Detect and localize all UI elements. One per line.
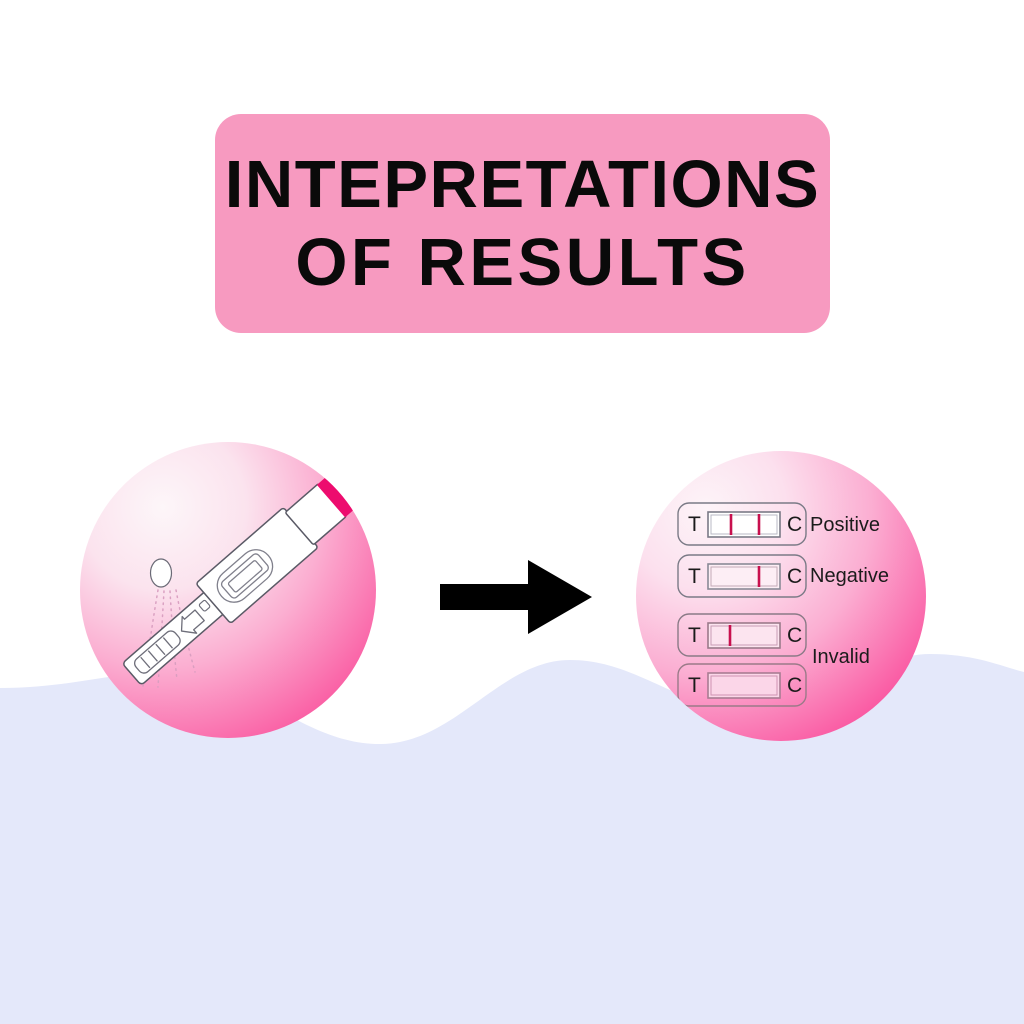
strip-letter-t: T	[688, 513, 701, 536]
page-title-line-1: INTEPRETATIONS	[225, 151, 820, 219]
page-title-line-2: OF RESULTS	[295, 225, 749, 300]
strip-letter-c: C	[787, 674, 802, 697]
results-panel: T C T C	[626, 450, 936, 742]
right-arrow-icon	[440, 560, 592, 634]
right-pink-circle	[636, 451, 926, 741]
test-stick-panel	[78, 440, 378, 740]
flow-arrow	[436, 552, 596, 642]
title-banner: INTEPRETATIONS OF RESULTS	[215, 114, 830, 333]
strip-window	[708, 564, 780, 589]
label-positive: Positive	[810, 514, 880, 537]
strip-window	[708, 512, 780, 537]
strip-letter-c: C	[787, 624, 802, 647]
strip-window	[708, 623, 780, 648]
label-invalid: Invalid	[812, 646, 870, 669]
strip-letter-c: C	[787, 565, 802, 588]
urine-drop-icon	[151, 559, 172, 587]
strip-letter-c: C	[787, 513, 802, 536]
label-negative: Negative	[810, 565, 889, 588]
strip-letter-t: T	[688, 674, 701, 697]
strip-letter-t: T	[688, 565, 701, 588]
illustration-stage: INTEPRETATIONS OF RESULTS	[0, 0, 1024, 1024]
strip-letter-t: T	[688, 624, 701, 647]
strip-window	[708, 673, 780, 698]
